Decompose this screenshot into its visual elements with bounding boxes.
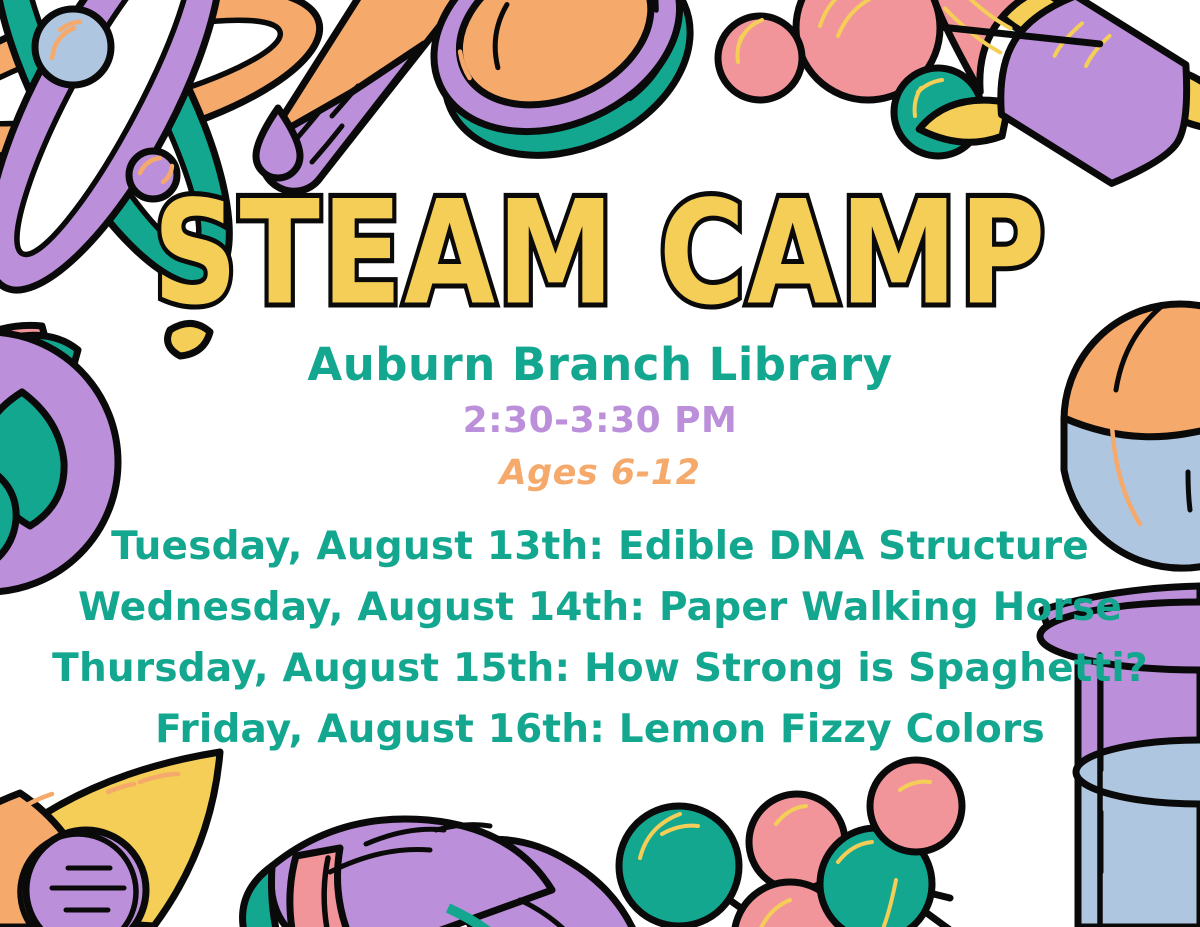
schedule-item: Wednesday, August 14th: Paper Walking Ho… bbox=[78, 578, 1122, 637]
event-time: 2:30-3:30 PM bbox=[463, 400, 738, 441]
schedule-list: Tuesday, August 13th: Edible DNA Structu… bbox=[52, 517, 1148, 760]
venue-name: Auburn Branch Library bbox=[307, 338, 892, 391]
age-range: Ages 6-12 bbox=[500, 453, 701, 493]
schedule-item: Thursday, August 15th: How Strong is Spa… bbox=[52, 639, 1148, 698]
poster-content: STEAM CAMP Auburn Branch Library 2:30-3:… bbox=[0, 0, 1200, 927]
schedule-item: Tuesday, August 13th: Edible DNA Structu… bbox=[111, 517, 1089, 576]
steam-camp-poster: .ol { stroke:#0a0a0a; stroke-width:7; st… bbox=[0, 0, 1200, 927]
schedule-item: Friday, August 16th: Lemon Fizzy Colors bbox=[155, 700, 1045, 759]
page-title: STEAM CAMP bbox=[153, 186, 1047, 322]
